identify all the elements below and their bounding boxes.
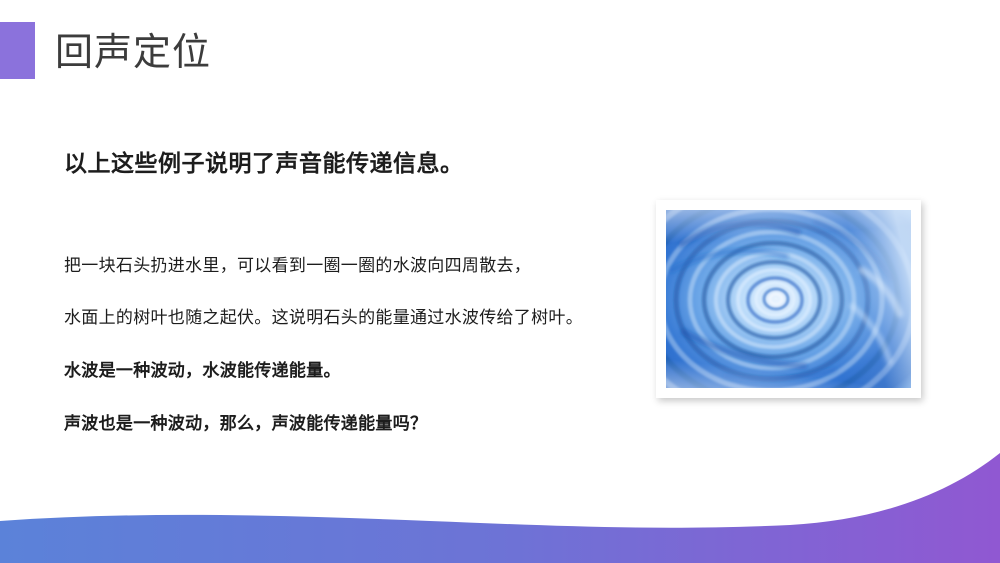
water-ripples-figure (656, 200, 921, 398)
body-paragraph-line-3: 水波是一种波动，水波能传递能量。 (64, 359, 664, 383)
lead-statement: 以上这些例子说明了声音能传递信息。 (64, 148, 664, 178)
water-ripples-image (666, 210, 911, 388)
body-text-block: 以上这些例子说明了声音能传递信息。 把一块石头扔进水里，可以看到一圈一圈的水波向… (64, 148, 664, 436)
title-accent-bar (0, 22, 35, 79)
presentation-slide: 回声定位 以上这些例子说明了声音能传递信息。 把一块石头扔进水里，可以看到一圈一… (0, 0, 1000, 563)
bottom-wave-decoration (0, 453, 1000, 563)
body-paragraph-line-4: 声波也是一种波动，那么，声波能传递能量吗？ (64, 412, 664, 436)
body-paragraph-line-1: 把一块石头扔进水里，可以看到一圈一圈的水波向四周散去， (64, 254, 664, 278)
body-paragraph-line-2: 水面上的树叶也随之起伏。这说明石头的能量通过水波传给了树叶。 (64, 306, 664, 330)
page-title: 回声定位 (55, 29, 211, 77)
